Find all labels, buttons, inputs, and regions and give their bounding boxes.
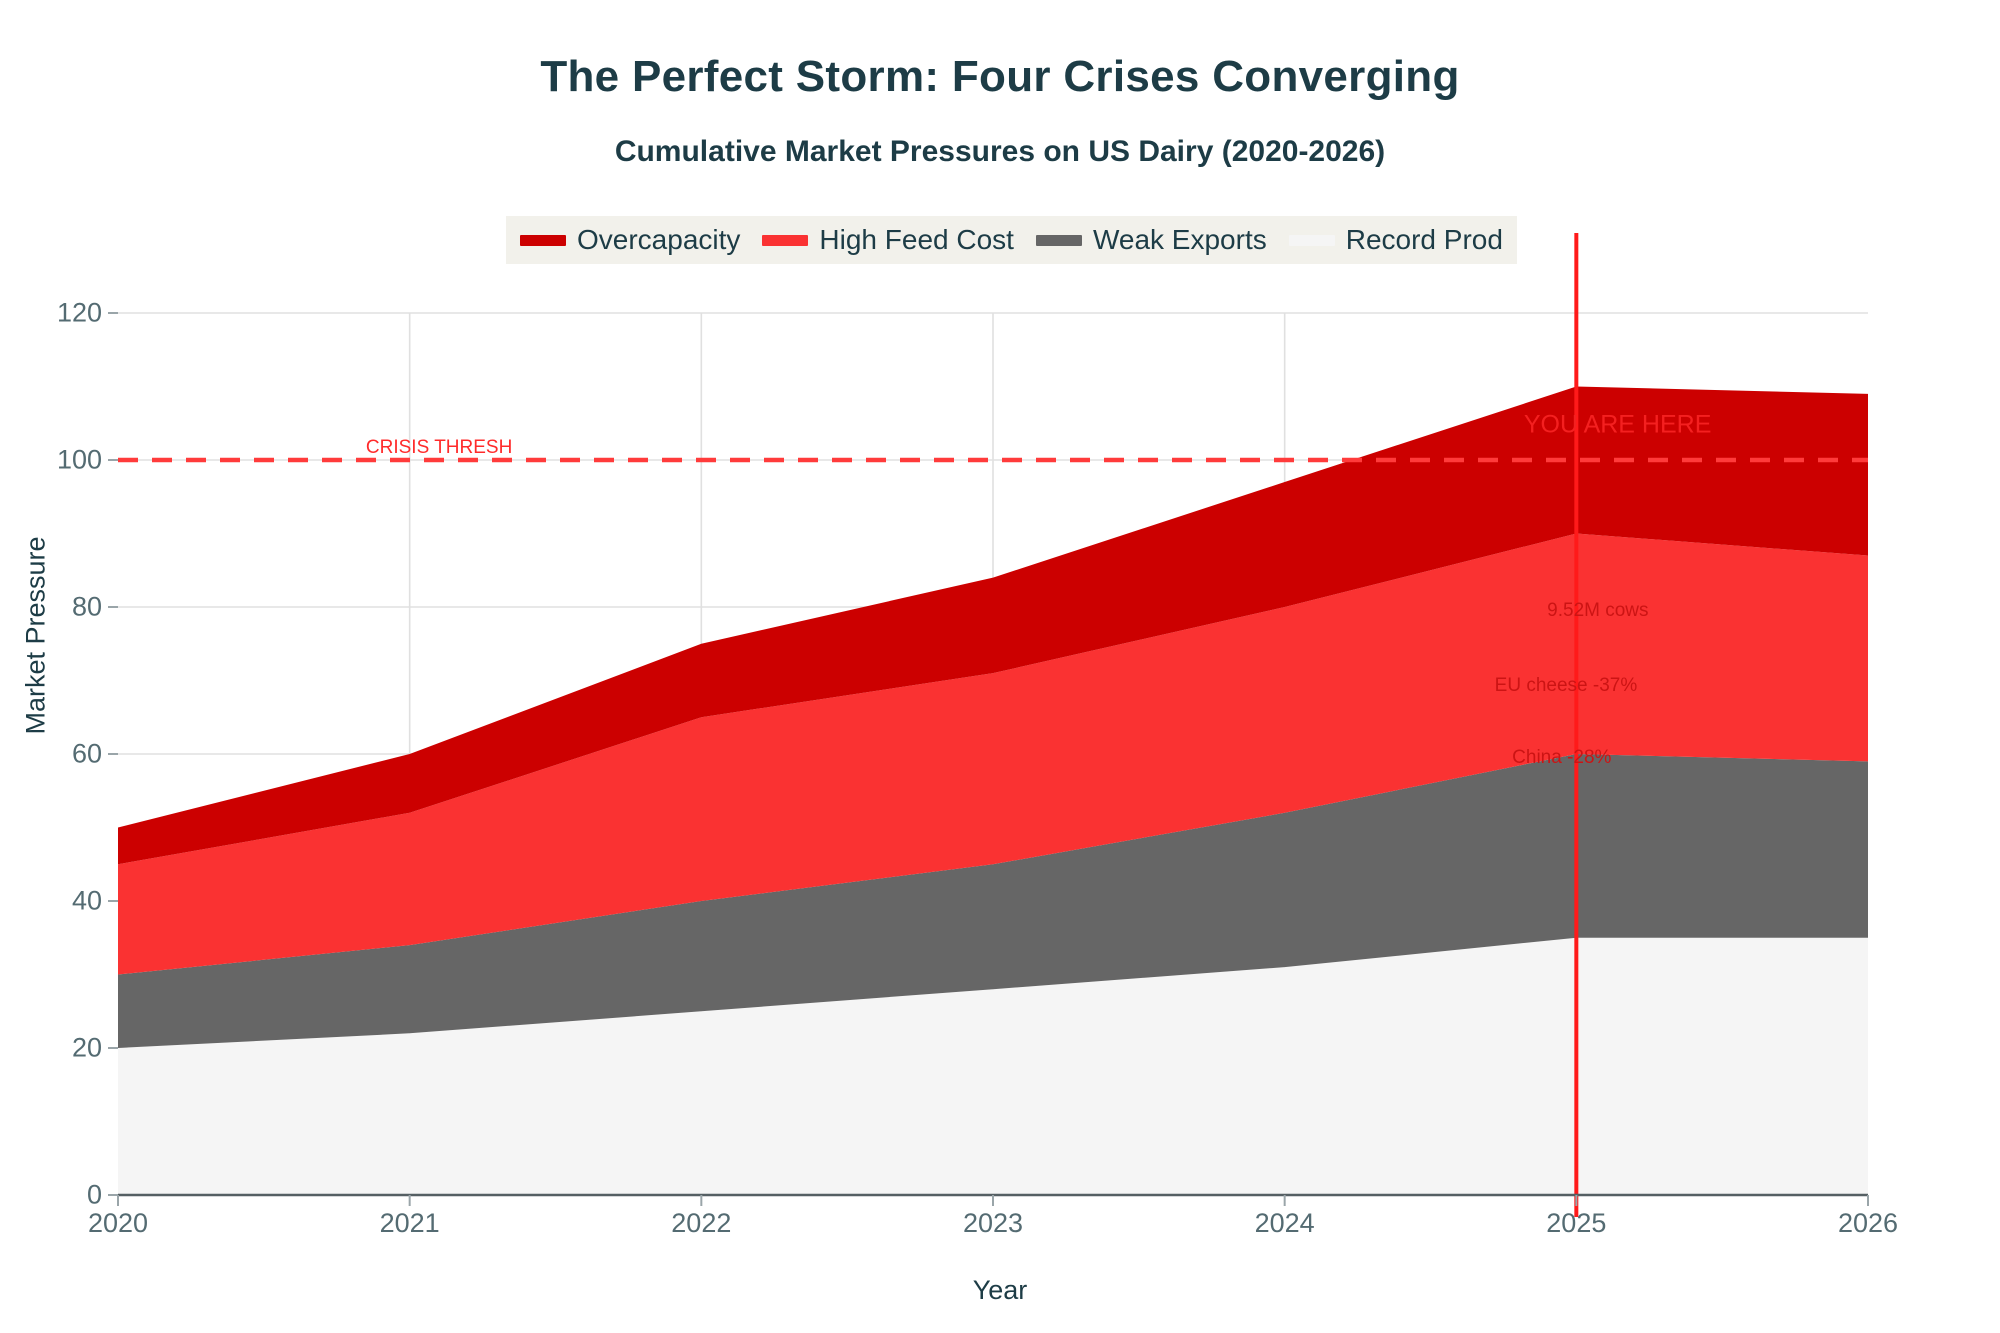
- y-tick-label: 120: [0, 298, 102, 329]
- legend-item-overcapacity[interactable]: Overcapacity: [520, 224, 740, 256]
- x-tick-label: 2026: [1788, 1208, 1948, 1239]
- china-annotation: China -28%: [1512, 747, 1611, 769]
- legend-swatch-overcapacity: [520, 235, 566, 246]
- x-tick-label: 2021: [330, 1208, 490, 1239]
- x-tick-label: 2024: [1205, 1208, 1365, 1239]
- legend-swatch-weak-exports: [1036, 235, 1082, 246]
- you-are-here: YOU ARE HERE: [1524, 410, 1712, 439]
- y-tick-label: 60: [0, 739, 102, 770]
- x-axis-title: Year: [0, 1275, 2000, 1306]
- x-tick-label: 2022: [621, 1208, 781, 1239]
- legend-item-record-prod[interactable]: Record Prod: [1289, 224, 1503, 256]
- legend-item-weak-exports[interactable]: Weak Exports: [1036, 224, 1267, 256]
- y-tick-label: 40: [0, 886, 102, 917]
- x-tick-label: 2020: [38, 1208, 198, 1239]
- y-tick-label: 100: [0, 445, 102, 476]
- chart-figure: The Perfect Storm: Four Crises Convergin…: [0, 0, 2000, 1333]
- legend-item-high-feed-cost[interactable]: High Feed Cost: [762, 224, 1014, 256]
- legend-label-high-feed-cost: High Feed Cost: [819, 224, 1014, 256]
- y-tick-label: 0: [0, 1180, 102, 1211]
- cows-annotation: 9.52M cows: [1547, 600, 1648, 622]
- y-tick-label: 20: [0, 1033, 102, 1064]
- legend-label-record-prod: Record Prod: [1346, 224, 1503, 256]
- legend-swatch-record-prod: [1289, 235, 1335, 246]
- eu-cheese-annotation: EU cheese -37%: [1495, 675, 1638, 697]
- y-axis-title: Market Pressure: [21, 536, 52, 736]
- legend-swatch-high-feed-cost: [762, 235, 808, 246]
- chart-legend: Overcapacity High Feed Cost Weak Exports…: [506, 216, 1517, 264]
- legend-label-overcapacity: Overcapacity: [577, 224, 740, 256]
- crisis-threshold: CRISIS THRESH: [366, 437, 512, 459]
- chart-subtitle: Cumulative Market Pressures on US Dairy …: [0, 135, 2000, 169]
- legend-label-weak-exports: Weak Exports: [1093, 224, 1267, 256]
- x-tick-label: 2023: [913, 1208, 1073, 1239]
- chart-title: The Perfect Storm: Four Crises Convergin…: [0, 52, 2000, 102]
- y-tick-label: 80: [0, 592, 102, 623]
- x-tick-label: 2025: [1496, 1208, 1656, 1239]
